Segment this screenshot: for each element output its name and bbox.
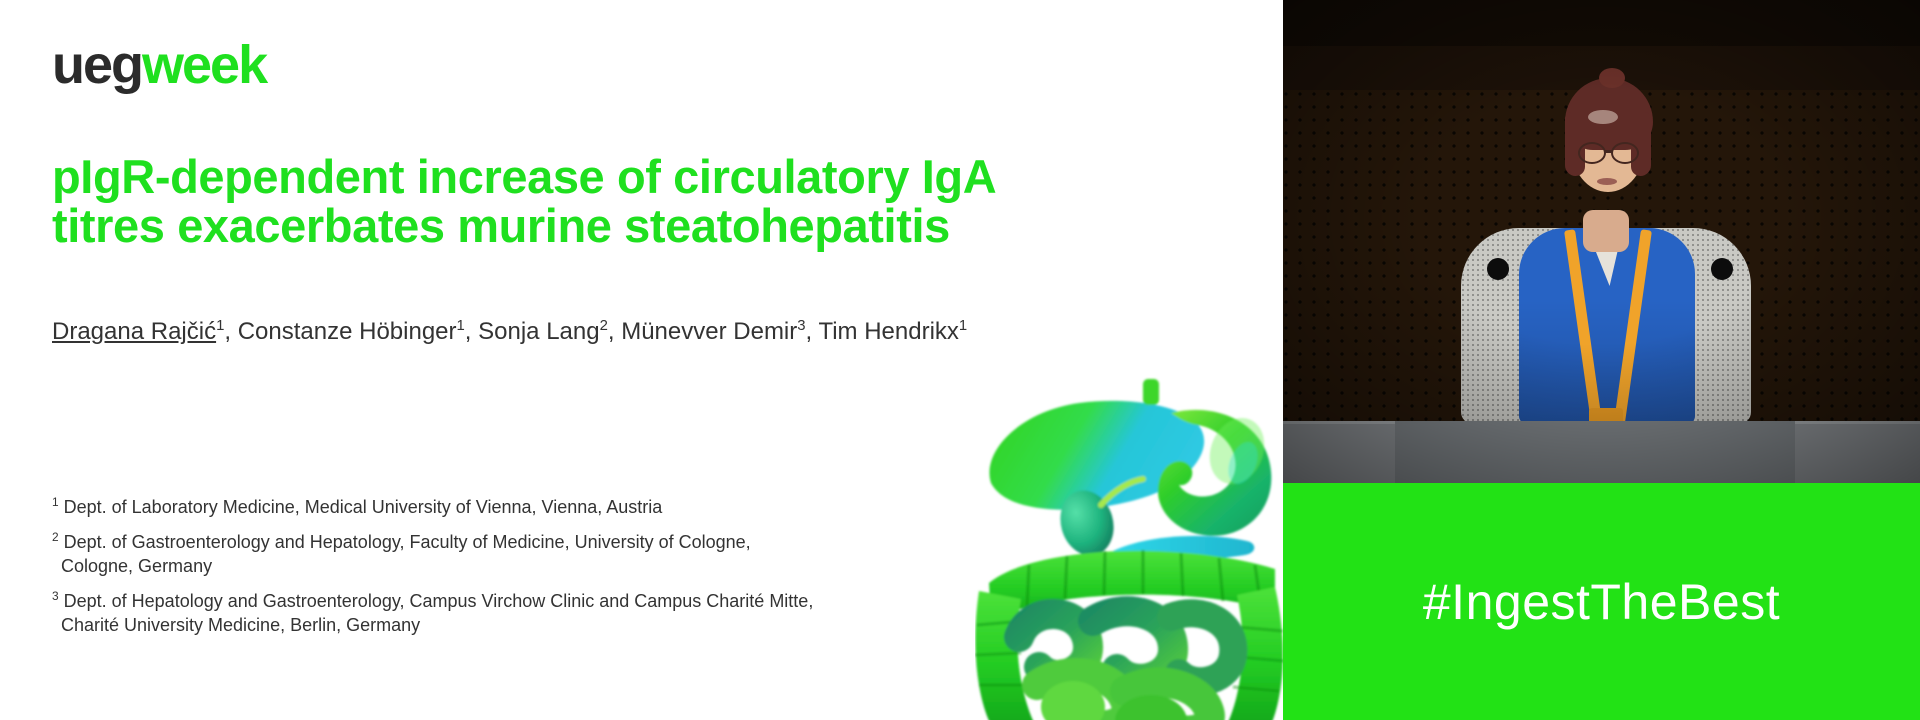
logo-text-ueg: ueg — [52, 35, 142, 95]
author-affil-marker: 1 — [457, 318, 465, 334]
author-name: Constanze Höbinger — [238, 318, 457, 345]
video-vignette — [1283, 0, 1920, 483]
author-affil-marker: 2 — [600, 318, 608, 334]
affiliation-text: Dept. of Gastroenterology and Hepatology… — [64, 532, 751, 552]
affiliation-text: Dept. of Laboratory Medicine, Medical Un… — [64, 497, 663, 517]
hashtag-banner: #IngestTheBest — [1283, 483, 1920, 720]
ueg-week-logo: uegweek — [52, 38, 266, 92]
author-name: Tim Hendrikx — [818, 318, 958, 345]
slide-title: pIgR-dependent increase of circulatory I… — [52, 152, 1172, 251]
affiliation-line: 1 Dept. of Laboratory Medicine, Medical … — [52, 495, 1052, 520]
author-item: Tim Hendrikx1 — [818, 318, 967, 345]
author-item: Constanze Höbinger1 — [238, 318, 465, 345]
author-separator: , — [608, 318, 621, 345]
slide-title-line-2: titres exacerbates murine steatohepatiti… — [52, 201, 1172, 250]
affiliation-text: Dept. of Hepatology and Gastroenterology… — [64, 591, 814, 611]
author-affil-marker: 3 — [797, 318, 805, 334]
slide-title-line-1: pIgR-dependent increase of circulatory I… — [52, 152, 1172, 201]
author-item: Dragana Rajčić1 — [52, 318, 224, 345]
affiliation-text: Charité University Medicine, Berlin, Ger… — [52, 614, 1052, 638]
logo-text-week: week — [142, 35, 266, 95]
affiliation-line: 2 Dept. of Gastroenterology and Hepatolo… — [52, 530, 1052, 555]
slide-panel: uegweek pIgR-dependent increase of circu… — [0, 0, 1283, 720]
affiliation-text: Cologne, Germany — [52, 555, 1052, 579]
author-list: Dragana Rajčić1, Constanze Höbinger1, So… — [52, 318, 1202, 347]
author-item: Sonja Lang2 — [478, 318, 608, 345]
author-name: Münevver Demir — [621, 318, 797, 345]
speaker-video-panel[interactable] — [1283, 0, 1920, 483]
author-name: Sonja Lang — [478, 318, 599, 345]
affiliation-marker: 2 — [52, 530, 59, 544]
affiliation-item: 1 Dept. of Laboratory Medicine, Medical … — [52, 495, 1052, 520]
affiliation-item: 3 Dept. of Hepatology and Gastroenterolo… — [52, 589, 1052, 638]
author-name: Dragana Rajčić — [52, 318, 216, 345]
affiliation-line: 3 Dept. of Hepatology and Gastroenterolo… — [52, 589, 1052, 614]
digestive-organs-illustration — [975, 355, 1283, 720]
author-separator: , — [806, 318, 819, 345]
author-separator: , — [465, 318, 478, 345]
affiliation-marker: 1 — [52, 495, 59, 509]
author-affil-marker: 1 — [959, 318, 967, 334]
affiliation-marker: 3 — [52, 589, 59, 603]
presentation-screenshot: uegweek pIgR-dependent increase of circu… — [0, 0, 1920, 720]
author-item: Münevver Demir3 — [621, 318, 805, 345]
affiliation-item: 2 Dept. of Gastroenterology and Hepatolo… — [52, 530, 1052, 579]
author-separator: , — [224, 318, 237, 345]
affiliation-list: 1 Dept. of Laboratory Medicine, Medical … — [52, 495, 1052, 648]
hashtag-text: #IngestTheBest — [1423, 573, 1780, 631]
